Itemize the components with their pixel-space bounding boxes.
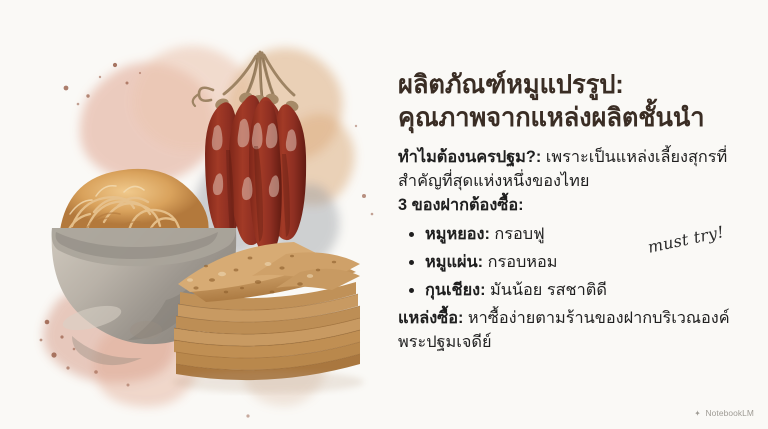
notebooklm-spark-icon <box>693 409 702 418</box>
page-title: ผลิตภัณฑ์หมูแปรรูป: คุณภาพจากแหล่งผลิตชั… <box>398 69 750 134</box>
where-label: แหล่งซื้อ: <box>398 309 463 327</box>
list-item-label: กุนเชียง: <box>425 281 486 299</box>
bullet-dot-icon <box>409 232 414 237</box>
list-item-text: กรอบหอม <box>483 253 557 271</box>
text-content-column: ผลิตภัณฑ์หมูแปรรูป: คุณภาพจากแหล่งผลิตชั… <box>398 0 754 429</box>
body-text: ทำไมต้องนครปฐม?: เพราะเป็นแหล่งเลี้ยงสุก… <box>398 146 750 355</box>
list-item-text: กรอบฟู <box>490 225 545 243</box>
why-label: ทำไมต้องนครปฐม?: <box>398 148 541 166</box>
illustration-watercolor-thai-pork-products <box>0 0 392 429</box>
list-item-label: หมูแผ่น: <box>425 253 483 271</box>
list-heading: 3 ของฝากต้องซื้อ: <box>398 194 750 218</box>
watermark-label: NotebookLM <box>706 408 755 418</box>
title-line-1: ผลิตภัณฑ์หมูแปรรูป: <box>398 69 750 102</box>
where-paragraph: แหล่งซื้อ: หาซื้อง่ายตามร้านของฝากบริเวณ… <box>398 307 750 355</box>
list-item: กุนเชียง: มันน้อย รสชาติดี <box>398 276 750 304</box>
notebooklm-watermark: NotebookLM <box>693 408 755 418</box>
why-paragraph: ทำไมต้องนครปฐม?: เพราะเป็นแหล่งเลี้ยงสุก… <box>398 146 750 194</box>
list-item-label: หมูหยอง: <box>425 225 490 243</box>
infographic-card: ผลิตภัณฑ์หมูแปรรูป: คุณภาพจากแหล่งผลิตชั… <box>0 0 768 429</box>
list-item-text: มันน้อย รสชาติดี <box>486 281 607 299</box>
list-item: หมูแผ่น: กรอบหอม <box>398 248 750 276</box>
bullet-dot-icon <box>409 288 414 293</box>
title-line-2: คุณภาพจากแหล่งผลิตชั้นนำ <box>398 102 750 135</box>
bullet-dot-icon <box>409 260 414 265</box>
